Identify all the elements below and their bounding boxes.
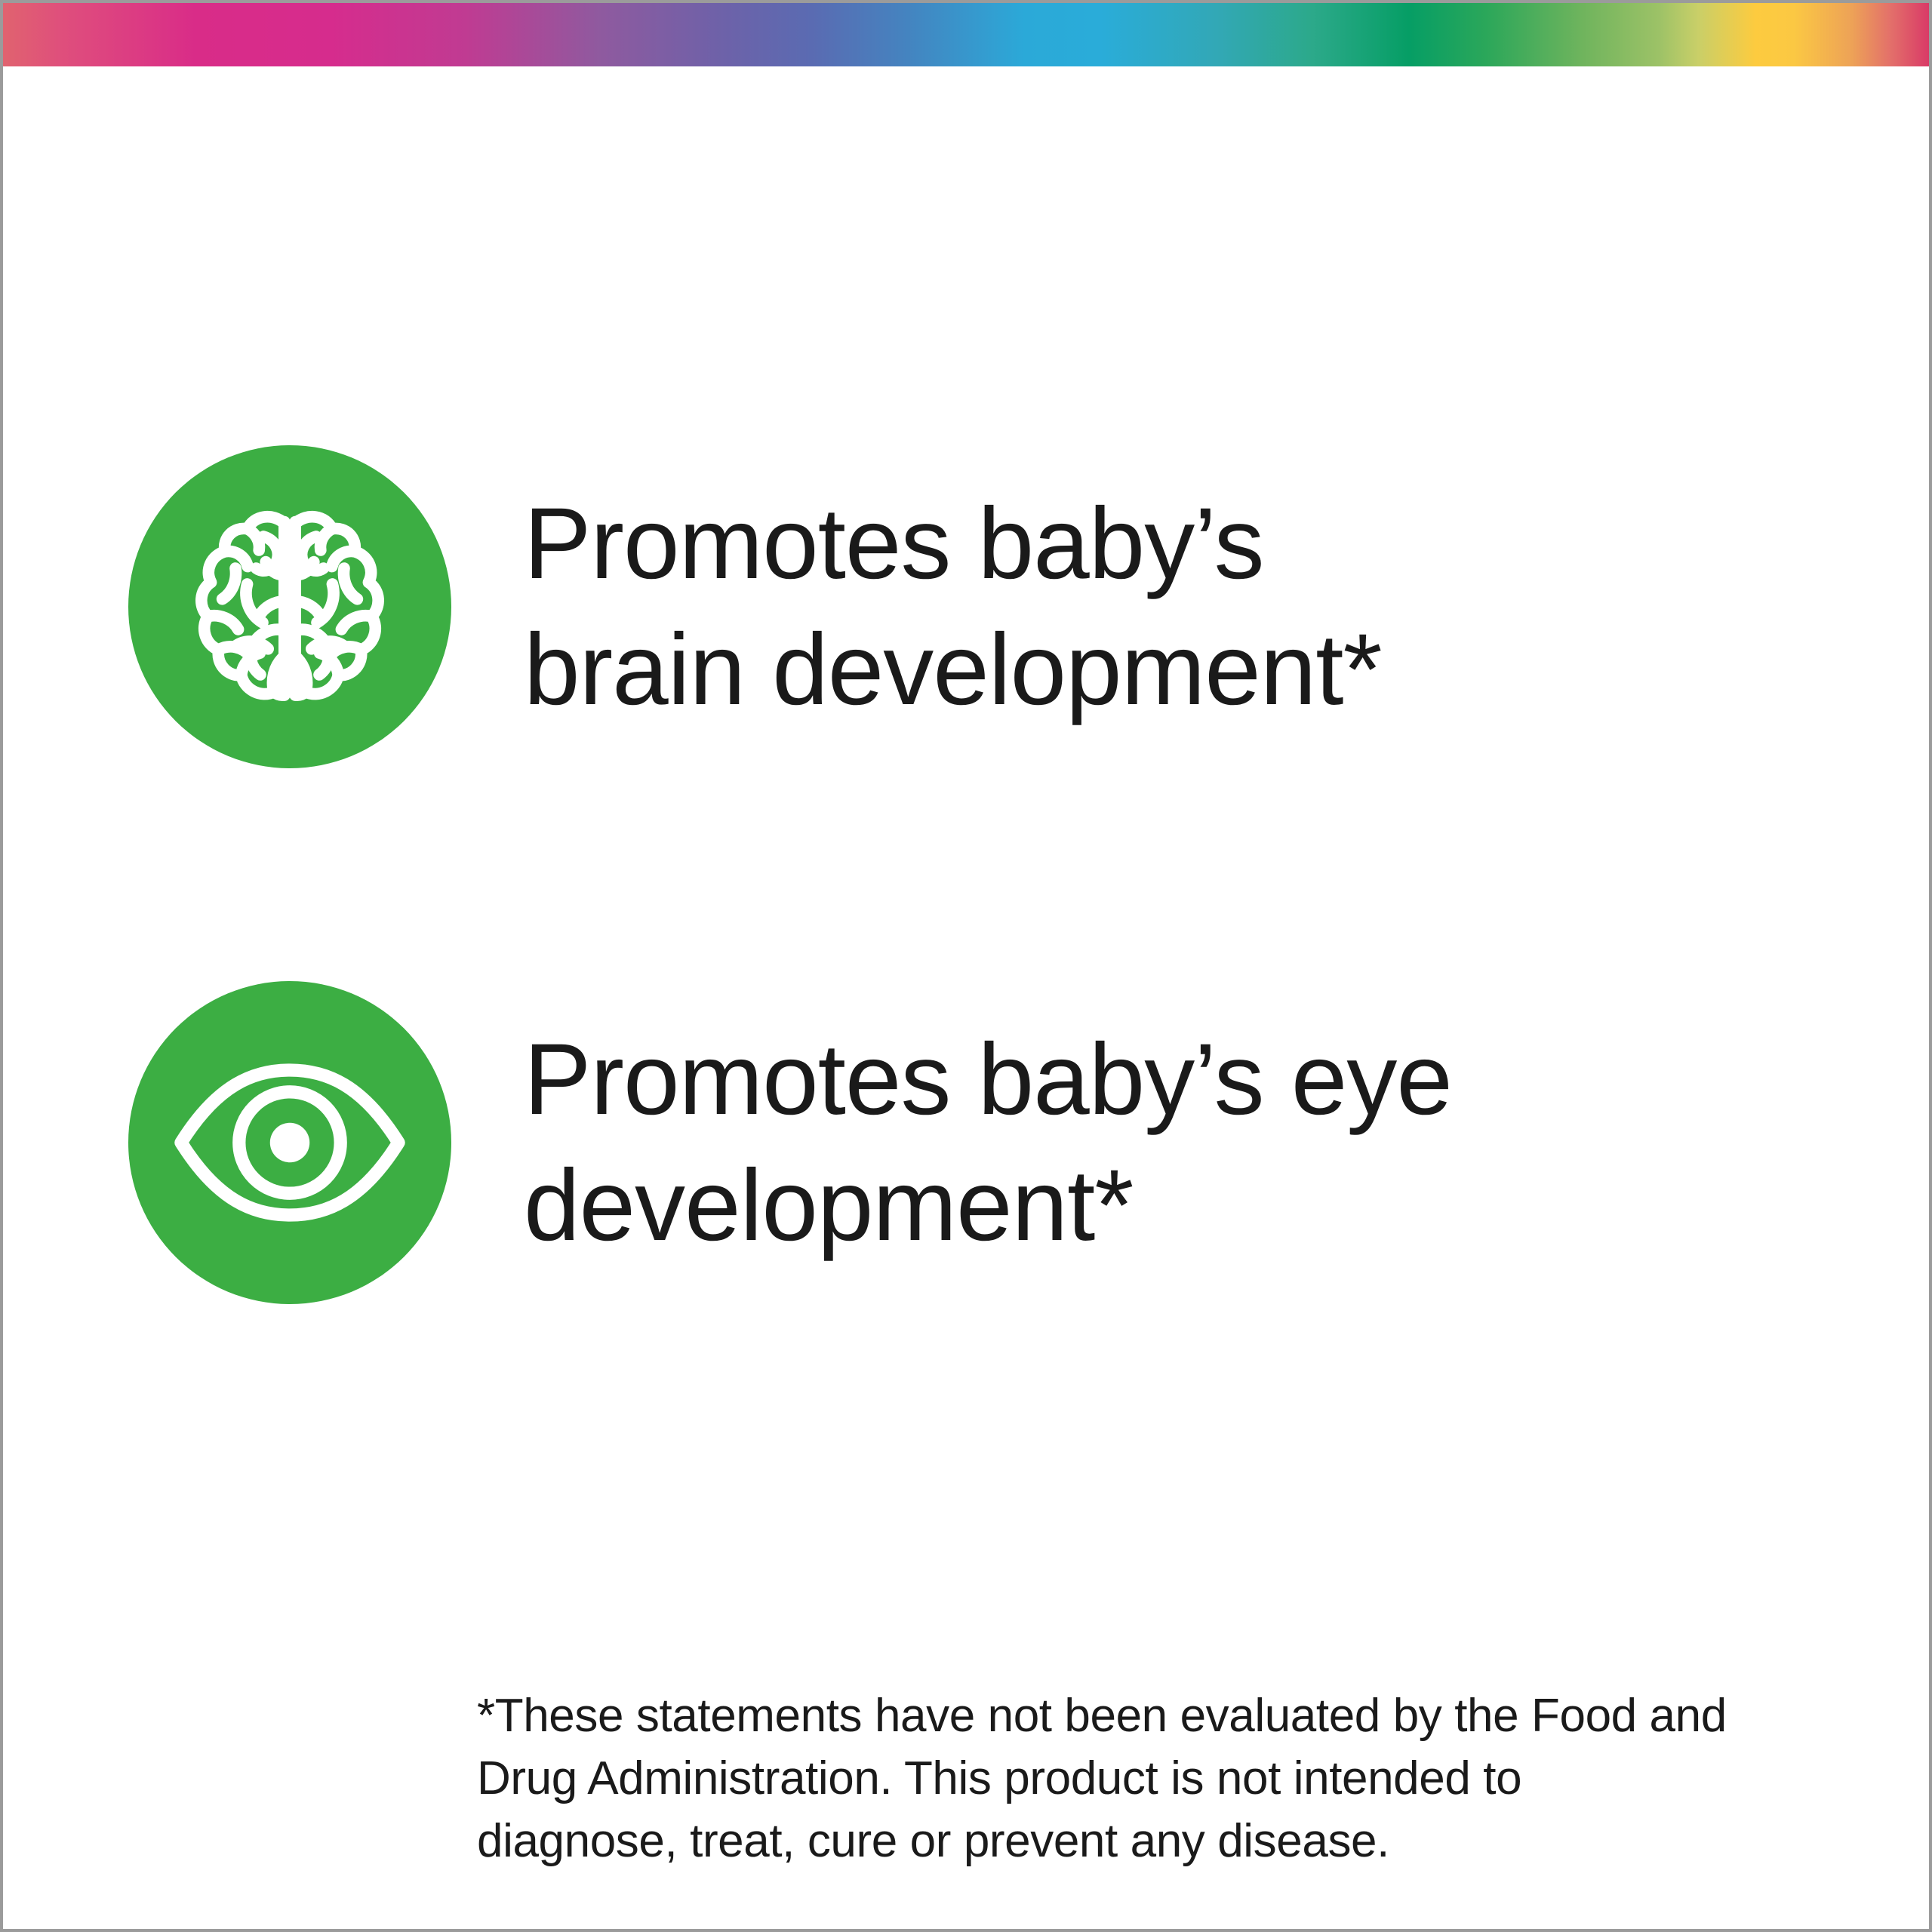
benefit-row: Promotes baby’s brain development* xyxy=(128,445,1505,768)
benefit-row: Promotes baby’s eye development* xyxy=(128,981,1505,1304)
product-benefits-infographic: Promotes baby’s brain development* Promo… xyxy=(0,0,1932,1932)
benefit-label: Promotes baby’s eye development* xyxy=(524,1017,1505,1269)
eye-icon xyxy=(128,981,451,1304)
benefit-label: Promotes baby’s brain development* xyxy=(524,481,1505,734)
brain-icon xyxy=(128,445,451,768)
rainbow-gradient-bar xyxy=(3,3,1929,66)
disclaimer-text: *These statements have not been evaluate… xyxy=(477,1684,1730,1872)
